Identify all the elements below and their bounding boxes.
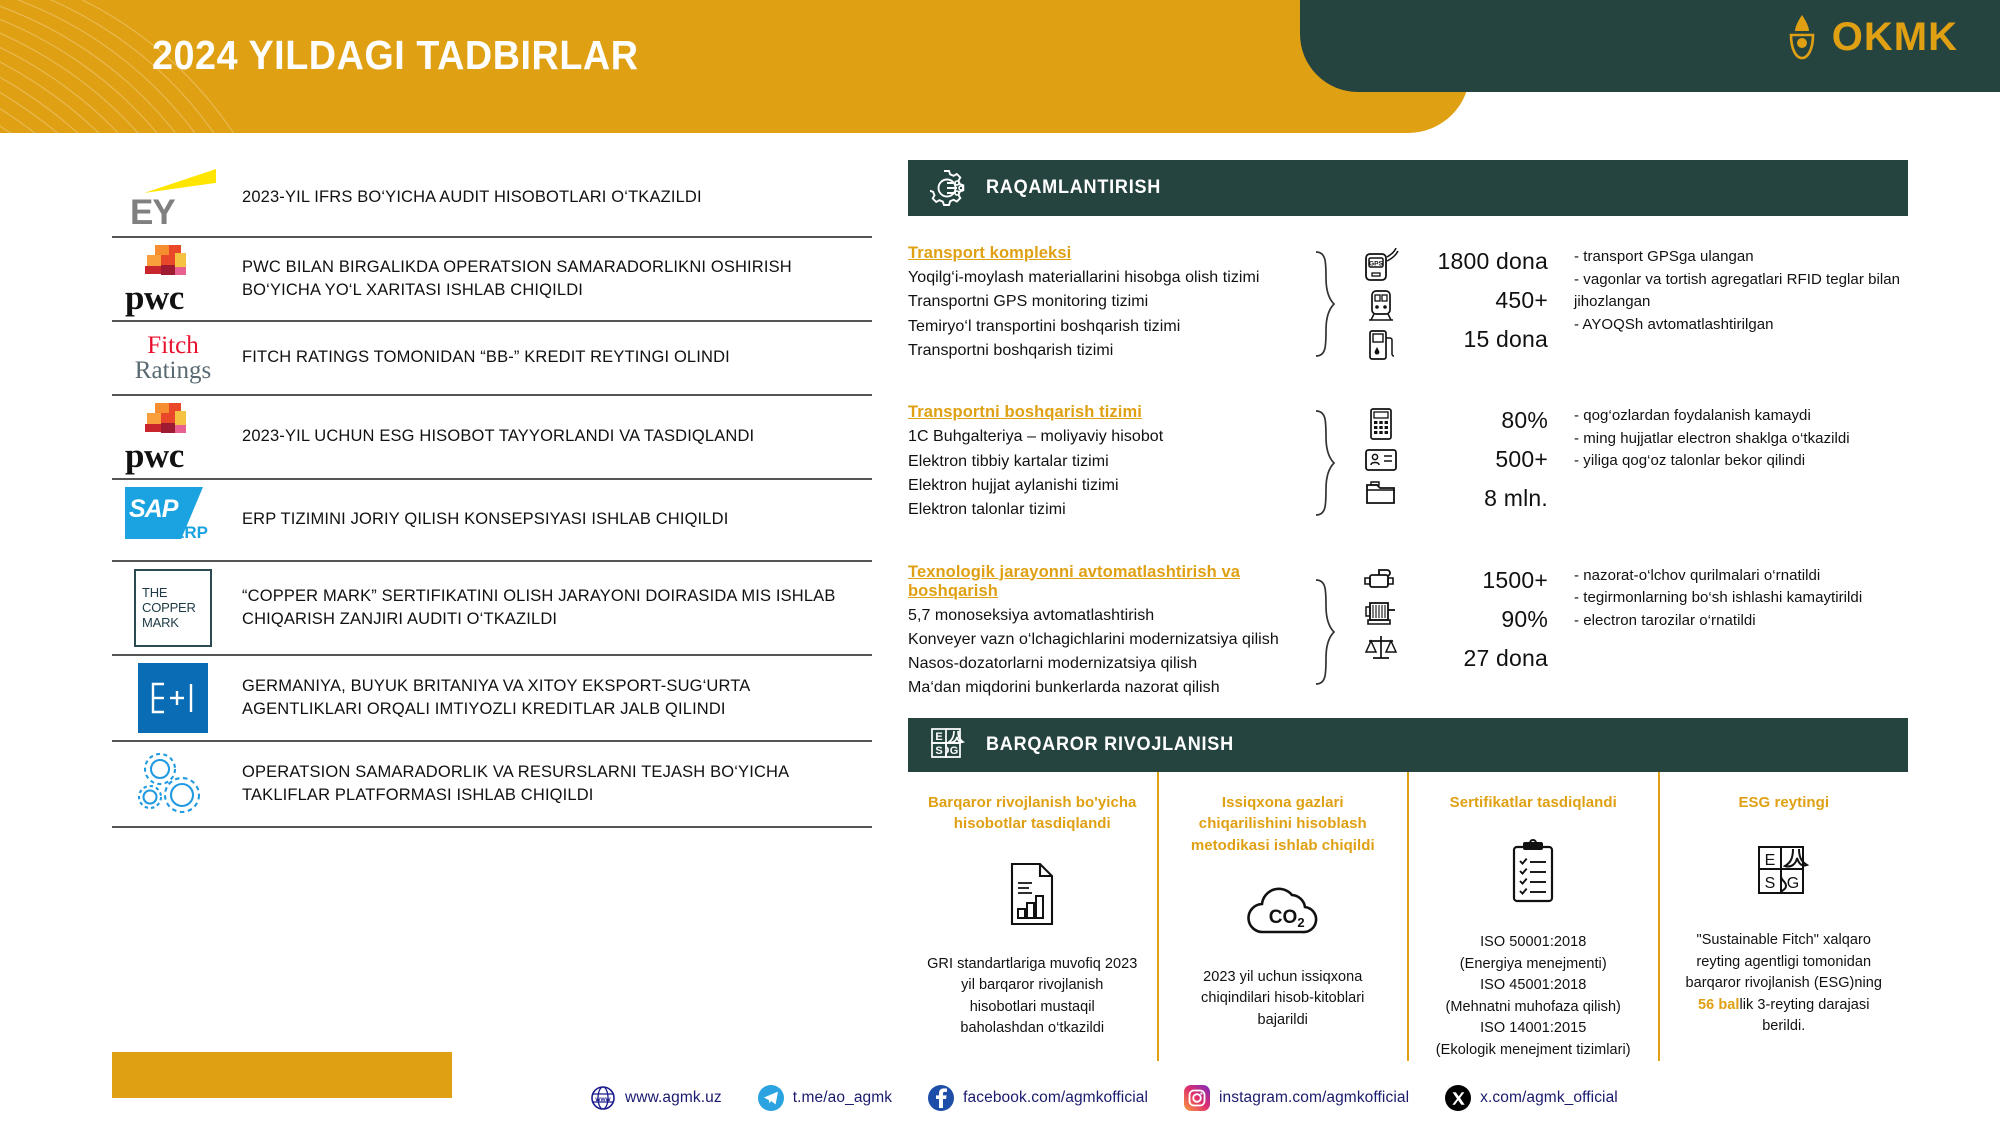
data-block-title: Transportni boshqarish tizimi <box>908 403 1302 422</box>
svg-text:S: S <box>1764 875 1775 892</box>
footer-link-telegram[interactable]: t.me/ao_agmk <box>758 1085 892 1111</box>
fuel-pump-icon <box>1366 328 1396 362</box>
co2-cloud-icon: CO 2 <box>1243 882 1323 945</box>
data-block-item: 5,7 monoseksiya avtomatlashtirish <box>908 604 1302 628</box>
certificate-line: ISO 45001:2018 <box>1436 975 1631 996</box>
bullet-item: - AYOQSh avtomatlashtirilgan <box>1574 314 1908 337</box>
data-value: 500+ <box>1495 446 1548 473</box>
bullet-item: - ming hujjatlar electron shaklga o‘tkaz… <box>1574 428 1908 451</box>
data-block-bullets: - qog‘ozlardan foydalanish kamaydi - min… <box>1548 403 1908 522</box>
fitch-wordmark: Fitch <box>117 333 229 358</box>
esg-column: Barqaror rivojlanish bo'yicha hisobotlar… <box>908 772 1159 1061</box>
data-block-list: Transportni boshqarish tizimi 1C Buhgalt… <box>908 403 1302 522</box>
data-block-item: Elektron talonlar tizimi <box>908 498 1302 522</box>
pwc-square <box>145 266 161 274</box>
esg-column-title: Barqaror rivojlanish bo'yicha hisobotlar… <box>926 792 1139 835</box>
id-card-icon <box>1363 447 1399 473</box>
esg-column-title: Sertifikatlar tasdiqlandi <box>1450 792 1617 813</box>
curly-brace-icon <box>1302 563 1346 701</box>
train-icon <box>1366 288 1396 322</box>
pwc-square <box>175 253 186 267</box>
svg-text:www: www <box>594 1096 611 1103</box>
list-item[interactable]: OPERATSION SAMARADORLIK VA RESURSLARNI T… <box>112 742 872 828</box>
data-block: Transportni boshqarish tizimi 1C Buhgalt… <box>908 403 1908 522</box>
esg-rating-text-pre: "Sustainable Fitch" xalqaro reyting agen… <box>1685 932 1882 991</box>
data-block-bullets: - transport GPSga ulangan - vagonlar va … <box>1548 244 1908 363</box>
brand-logo: OKMK <box>1785 13 1958 61</box>
data-value: 90% <box>1501 606 1548 633</box>
data-block-item: Nasos-dozatorlarni modernizatsiya qilish <box>908 652 1302 676</box>
data-value: 450+ <box>1495 287 1548 314</box>
sap-wordmark: SAP <box>129 495 177 524</box>
data-value: 1800 dona <box>1437 248 1548 275</box>
data-block-title: Texnologik jarayonni avtomatlashtirish v… <box>908 563 1302 601</box>
esg-column-body: ISO 50001:2018 (Energiya menejmenti) ISO… <box>1436 932 1631 1061</box>
data-block-item: Transportni GPS monitoring tizimi <box>908 290 1302 314</box>
list-item-label: PWC BILAN BIRGALIKDA OPERATSION SAMARADO… <box>234 256 872 303</box>
bullet-item: - vagonlar va tortish agregatlari RFID t… <box>1574 269 1908 314</box>
ey-triangle-icon <box>144 169 216 193</box>
svg-text:CO: CO <box>1269 907 1298 928</box>
footer-link-label: t.me/ao_agmk <box>793 1089 892 1107</box>
esg-puzzle-icon: E S G <box>928 725 968 765</box>
pwc-logo: pwc <box>112 403 234 471</box>
data-block-item: Elektron hujjat aylanishi tizimi <box>908 474 1302 498</box>
fitch-ratings-logo: Fitch Ratings <box>112 333 234 383</box>
achievements-list: EY 2023-YIL IFRS BO‘YICHA AUDIT HISOBOTL… <box>112 160 872 828</box>
pwc-square <box>175 411 186 425</box>
pwc-square <box>161 423 175 433</box>
panel-title: BARQAROR RIVOJLANISH <box>986 734 1234 756</box>
data-block-icons: GPS <box>1346 244 1416 363</box>
data-block: Texnologik jarayonni avtomatlashtirish v… <box>908 563 1908 701</box>
panel-title: RAQAMLANTIRISH <box>986 177 1161 199</box>
list-item[interactable]: EY 2023-YIL IFRS BO‘YICHA AUDIT HISOBOTL… <box>112 160 872 238</box>
footer-link-label: facebook.com/agmkofficial <box>963 1089 1148 1107</box>
esg-column: ESG reytingi E S G "Sustainable Fitch" x… <box>1660 772 1909 1061</box>
eh-monogram-icon <box>150 681 196 715</box>
data-value: 80% <box>1501 407 1548 434</box>
pwc-square <box>145 424 161 432</box>
telegram-icon <box>758 1085 784 1111</box>
bullet-item: - yiliga qog‘oz talonlar bekor qilindi <box>1574 450 1908 473</box>
esg-column-body: "Sustainable Fitch" xalqaro reyting agen… <box>1678 930 1891 1037</box>
esg-column-body: GRI standartlariga muvofiq 2023 yil barq… <box>926 954 1139 1040</box>
list-item-label: FITCH RATINGS TOMONIDAN “BB-” KREDIT REY… <box>234 346 730 369</box>
euler-hermes-logo <box>112 663 234 733</box>
footer-link-facebook[interactable]: facebook.com/agmkofficial <box>928 1085 1148 1111</box>
svg-text:GPS: GPS <box>1369 261 1384 268</box>
svg-text:S: S <box>935 745 942 757</box>
curly-brace-icon <box>1302 244 1346 363</box>
esg-puzzle-icon: E S G <box>1751 839 1817 908</box>
gears-icon <box>130 749 216 819</box>
list-item-label: ERP TIZIMINI JORIY QILISH KONSEPSIYASI I… <box>234 508 728 531</box>
footer-link-label: www.agmk.uz <box>625 1089 722 1107</box>
data-block-list: Transport kompleksi Yoqilg‘i-moylash mat… <box>908 244 1302 363</box>
footer-link-label: instagram.com/agmkofficial <box>1219 1089 1409 1107</box>
data-block: Transport kompleksi Yoqilg‘i-moylash mat… <box>908 244 1908 363</box>
copper-mark-line-3: MARK <box>142 616 210 630</box>
data-block-title: Transport kompleksi <box>908 244 1302 263</box>
data-block-icons <box>1346 563 1416 701</box>
data-block-list: Texnologik jarayonni avtomatlashtirish v… <box>908 563 1302 701</box>
pwc-square <box>175 267 186 275</box>
page-header: 2024 YILDAGI TADBIRLAR OKMK <box>0 0 2000 135</box>
footer-link-x[interactable]: x.com/agmk_official <box>1445 1085 1618 1111</box>
clipboard-check-icon <box>1506 839 1560 910</box>
gear-circuit-icon <box>930 169 968 207</box>
bullet-item: - tegirmonlarning bo‘sh ishlashi kamayti… <box>1574 587 1908 610</box>
digitalization-panel: RAQAMLANTIRISH Transport kompleksi Yoqil… <box>908 160 1908 701</box>
copper-mark-line-1: THE <box>142 586 210 600</box>
erp-wordmark: ERP <box>173 523 208 543</box>
pwc-square <box>147 413 161 424</box>
sap-erp-logo: SAP ERP <box>112 487 234 553</box>
esg-column: Issiqxona gazlari chiqarilishini hisobla… <box>1159 772 1410 1061</box>
list-item[interactable]: GERMANIYA, BUYUK BRITANIYA VA XITOY EKSP… <box>112 656 872 742</box>
list-item[interactable]: SAP ERP ERP TIZIMINI JORIY QILISH KONSEP… <box>112 480 872 562</box>
list-item-label: “COPPER MARK” SERTIFIKATINI OLISH JARAYO… <box>234 585 872 632</box>
electric-motor-icon <box>1363 599 1399 627</box>
sustainability-panel: E S G BARQAROR RIVOJLANISH Barqaror rivo… <box>908 718 1908 1061</box>
footer-link-label: x.com/agmk_official <box>1480 1089 1618 1107</box>
certificate-line: ISO 50001:2018 <box>1436 932 1631 953</box>
esg-columns: Barqaror rivojlanish bo'yicha hisobotlar… <box>908 772 1908 1061</box>
esg-column: Sertifikatlar tasdiqlandi ISO 50001:2018 <box>1409 772 1660 1061</box>
curly-brace-icon <box>1302 403 1346 522</box>
data-block-item: Elektron tibbiy kartalar tizimi <box>908 450 1302 474</box>
list-item-label: 2023-YIL IFRS BO‘YICHA AUDIT HISOBOTLARI… <box>234 186 702 209</box>
list-item[interactable]: pwc PWC BILAN BIRGALIKDA OPERATSION SAMA… <box>112 238 872 322</box>
certificate-line: ISO 14001:2015 <box>1436 1018 1631 1039</box>
data-block-bullets: - nazorat-o‘lchov qurilmalari o‘rnatildi… <box>1548 563 1908 701</box>
pwc-wordmark: pwc <box>125 436 184 476</box>
folder-icon <box>1364 479 1398 507</box>
copper-mark-line-2: COPPER <box>142 601 210 615</box>
flame-droplet-icon <box>1785 13 1819 61</box>
footer-link-website[interactable]: www www.agmk.uz <box>590 1085 722 1111</box>
list-item[interactable]: Fitch Ratings FITCH RATINGS TOMONIDAN “B… <box>112 322 872 396</box>
pwc-wordmark: pwc <box>125 278 184 318</box>
instagram-icon <box>1184 1085 1210 1111</box>
bullet-item: - transport GPSga ulangan <box>1574 246 1908 269</box>
footer-social-links: www www.agmk.uz t.me/ao_agmk facebook.co… <box>590 1078 1990 1118</box>
svg-text:E: E <box>935 731 942 743</box>
esg-column-body: 2023 yil uchun issiqxona chiqindilari hi… <box>1177 967 1390 1031</box>
gps-device-icon: GPS <box>1362 248 1400 282</box>
data-value: 1500+ <box>1482 567 1548 594</box>
calculator-icon <box>1366 407 1396 441</box>
digitalization-panel-header: RAQAMLANTIRISH <box>908 160 1908 216</box>
list-item[interactable]: pwc 2023-YIL UCHUN ESG HISOBOT TAYYORLAN… <box>112 396 872 480</box>
esg-rating-text-post: lik 3-reyting darajasi berildi. <box>1739 997 1869 1034</box>
svg-text:E: E <box>1764 852 1775 869</box>
ey-logo: EY <box>112 167 234 229</box>
sustainability-panel-header: E S G BARQAROR RIVOJLANISH <box>908 718 1908 772</box>
brand-name: OKMK <box>1832 15 1958 60</box>
data-block-icons <box>1346 403 1416 522</box>
data-block-item: Yoqilg‘i-moylash materiallarini hisobga … <box>908 266 1302 290</box>
ratings-wordmark: Ratings <box>117 358 229 383</box>
data-block-item: Ma‘dan miqdorini bunkerlarda nazorat qil… <box>908 676 1302 700</box>
list-item-label: OPERATSION SAMARADORLIK VA RESURSLARNI T… <box>234 761 872 808</box>
esg-rating-score: 56 bal <box>1698 997 1739 1013</box>
bullet-item: - electron tarozilar o‘rnatildi <box>1574 610 1908 633</box>
certificate-line: (Ekologik menejment tizimlari) <box>1436 1040 1631 1061</box>
data-value: 8 mln. <box>1484 485 1548 512</box>
footer-link-instagram[interactable]: instagram.com/agmkofficial <box>1184 1085 1409 1111</box>
x-twitter-icon <box>1445 1085 1471 1111</box>
pwc-square <box>161 265 175 275</box>
pwc-square <box>147 255 161 266</box>
scales-icon <box>1364 633 1398 663</box>
copper-mark-logo: THE COPPER MARK <box>112 569 234 647</box>
valve-icon <box>1362 567 1400 593</box>
document-chart-icon <box>1004 861 1060 932</box>
svg-text:G: G <box>1787 875 1799 892</box>
bullet-item: - nazorat-o‘lchov qurilmalari o‘rnatildi <box>1574 565 1908 588</box>
data-block-values: 1500+ 90% 27 dona <box>1416 563 1548 701</box>
page-title: 2024 YILDAGI TADBIRLAR <box>152 32 639 79</box>
data-value: 27 dona <box>1463 645 1548 672</box>
data-block-item: Konveyer vazn o‘lchagichlarini moderniza… <box>908 628 1302 652</box>
facebook-icon <box>928 1085 954 1111</box>
list-item-label: GERMANIYA, BUYUK BRITANIYA VA XITOY EKSP… <box>234 675 872 722</box>
svg-text:2: 2 <box>1297 915 1304 930</box>
pwc-logo: pwc <box>112 245 234 313</box>
data-block-item: 1C Buhgalteriya – moliyaviy hisobot <box>908 425 1302 449</box>
header-gold-banner: 2024 YILDAGI TADBIRLAR <box>0 0 1470 133</box>
data-block-values: 1800 dona 450+ 15 dona <box>1416 244 1548 363</box>
data-value: 15 dona <box>1463 326 1548 353</box>
list-item-label: 2023-YIL UCHUN ESG HISOBOT TAYYORLANDI V… <box>234 425 754 448</box>
data-block-item: Transportni boshqarish tizimi <box>908 339 1302 363</box>
gears-icon <box>112 749 234 819</box>
certificate-line: (Mehnatni muhofaza qilish) <box>1436 997 1631 1018</box>
esg-column-title: ESG reytingi <box>1738 792 1829 813</box>
data-block-item: Temiryo‘l transportini boshqarish tizimi <box>908 315 1302 339</box>
footer-gold-bar <box>112 1052 452 1098</box>
list-item[interactable]: THE COPPER MARK “COPPER MARK” SERTIFIKAT… <box>112 562 872 656</box>
globe-icon: www <box>590 1085 616 1111</box>
svg-text:G: G <box>950 745 959 757</box>
esg-column-title: Issiqxona gazlari chiqarilishini hisobla… <box>1177 792 1390 856</box>
certificate-line: (Energiya menejmenti) <box>1436 954 1631 975</box>
pwc-square <box>175 425 186 433</box>
ey-wordmark: EY <box>130 193 175 233</box>
bullet-item: - qog‘ozlardan foydalanish kamaydi <box>1574 405 1908 428</box>
data-block-values: 80% 500+ 8 mln. <box>1416 403 1548 522</box>
